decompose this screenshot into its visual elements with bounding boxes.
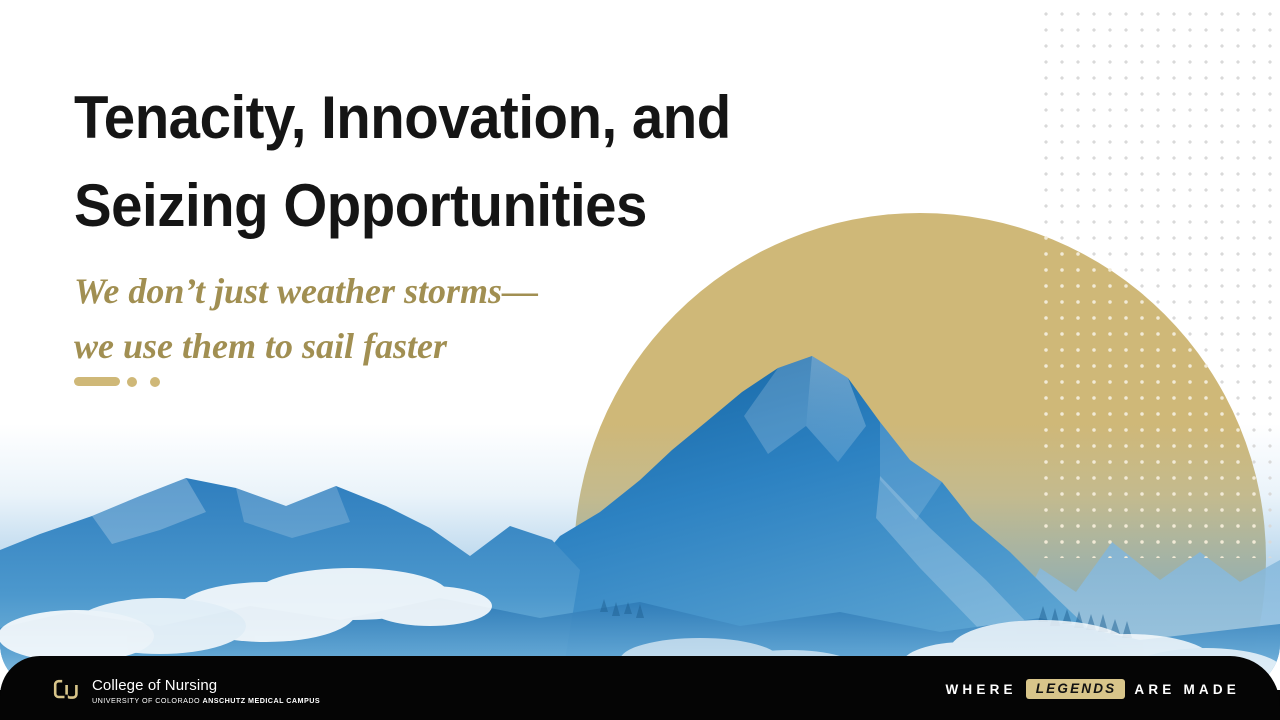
emphasis-underline-bar bbox=[74, 377, 120, 386]
title-line-1: Tenacity, Innovation, and bbox=[74, 74, 817, 162]
emphasis-dot-2 bbox=[150, 377, 160, 387]
cu-logo-lockup: College of Nursing UNIVERSITY OF COLORAD… bbox=[52, 676, 320, 706]
logo-primary-text: College of Nursing bbox=[92, 678, 320, 694]
presentation-slide: Tenacity, Innovation, and Seizing Opport… bbox=[0, 0, 1280, 720]
subtitle-line-1: We don’t just weather storms— bbox=[74, 264, 538, 319]
logo-campus-text: ANSCHUTZ MEDICAL CAMPUS bbox=[202, 696, 320, 705]
tagline-legends-badge: LEGENDS bbox=[1026, 679, 1126, 699]
logo-university-text: UNIVERSITY OF COLORADO bbox=[92, 696, 202, 705]
brand-tagline: WHERE LEGENDS ARE MADE bbox=[945, 679, 1240, 699]
subtitle-line-2-rest: use them to sail faster bbox=[114, 326, 447, 366]
title-line-2: Seizing Opportunities bbox=[74, 162, 817, 250]
subtitle: We don’t just weather storms— we use the… bbox=[74, 264, 538, 374]
emphasis-dot-1 bbox=[127, 377, 137, 387]
mountain-photo bbox=[0, 330, 1280, 690]
subtitle-emphasis-text: we bbox=[74, 326, 114, 366]
logo-secondary-text: UNIVERSITY OF COLORADO ANSCHUTZ MEDICAL … bbox=[92, 696, 320, 705]
mountain-ridge-graphic bbox=[0, 330, 1280, 690]
tagline-where: WHERE bbox=[945, 682, 1016, 697]
cu-monogram-icon bbox=[52, 676, 82, 706]
subtitle-line-2: we use them to sail faster bbox=[74, 319, 538, 374]
logo-text-block: College of Nursing UNIVERSITY OF COLORAD… bbox=[92, 678, 320, 705]
tagline-are-made: ARE MADE bbox=[1134, 682, 1240, 697]
subtitle-emphasis-word: we bbox=[74, 319, 114, 374]
page-title: Tenacity, Innovation, and Seizing Opport… bbox=[74, 74, 864, 250]
